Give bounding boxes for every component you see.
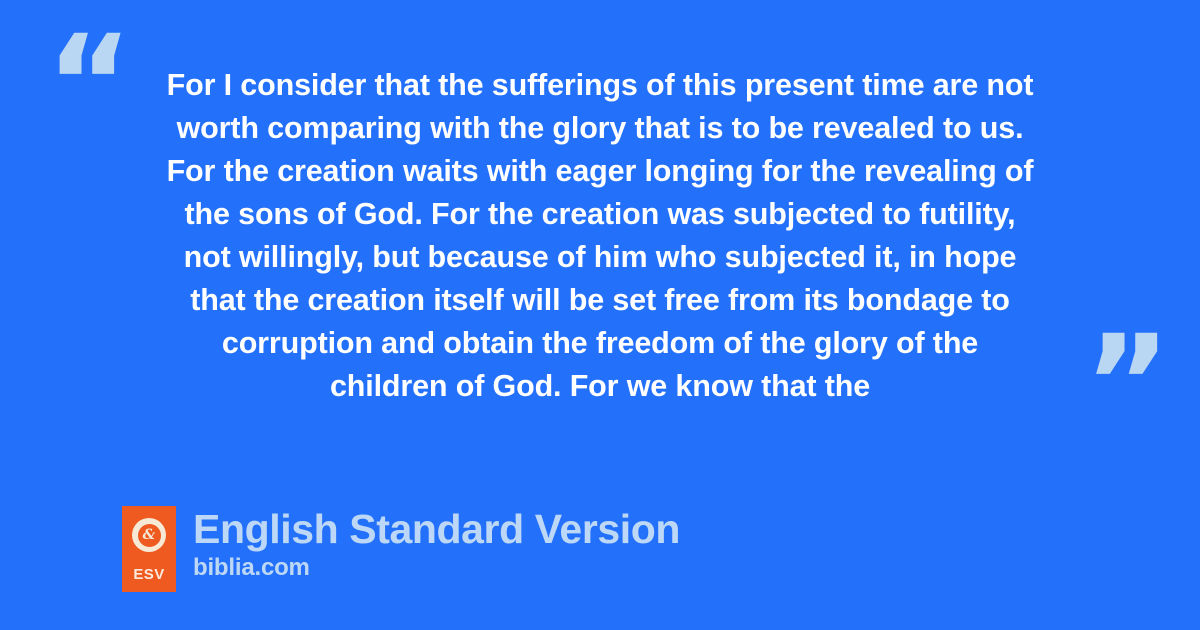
quote-line: For the creation waits with eager longin… bbox=[60, 150, 1140, 193]
quote-line: not willingly, but because of him who su… bbox=[60, 236, 1140, 279]
bible-version-name: English Standard Version bbox=[193, 506, 680, 552]
attribution-text: English Standard Version biblia.com bbox=[193, 506, 680, 582]
logo-abbreviation: ESV bbox=[133, 567, 164, 582]
bible-verse-card: “ For I consider that the sufferings of … bbox=[0, 0, 1200, 630]
seal-monogram: & bbox=[143, 528, 156, 542]
quote-line: the sons of God. For the creation was su… bbox=[60, 193, 1140, 236]
quote-line: For I consider that the sufferings of th… bbox=[60, 64, 1140, 107]
quote-line: corruption and obtain the freedom of the… bbox=[60, 322, 1140, 365]
esv-logo: & ESV bbox=[122, 506, 176, 592]
quote-line: children of God. For we know that the bbox=[60, 365, 1140, 408]
quote-line: worth comparing with the glory that is t… bbox=[60, 107, 1140, 150]
attribution-footer: & ESV English Standard Version biblia.co… bbox=[122, 506, 680, 592]
quote-text-block: For I consider that the sufferings of th… bbox=[0, 64, 1200, 408]
close-quote-icon: ” bbox=[1084, 318, 1167, 450]
seal-inner-ring: & bbox=[137, 523, 162, 548]
seal-icon: & bbox=[132, 518, 166, 552]
quote-line: that the creation itself will be set fre… bbox=[60, 279, 1140, 322]
site-url[interactable]: biblia.com bbox=[193, 554, 680, 582]
